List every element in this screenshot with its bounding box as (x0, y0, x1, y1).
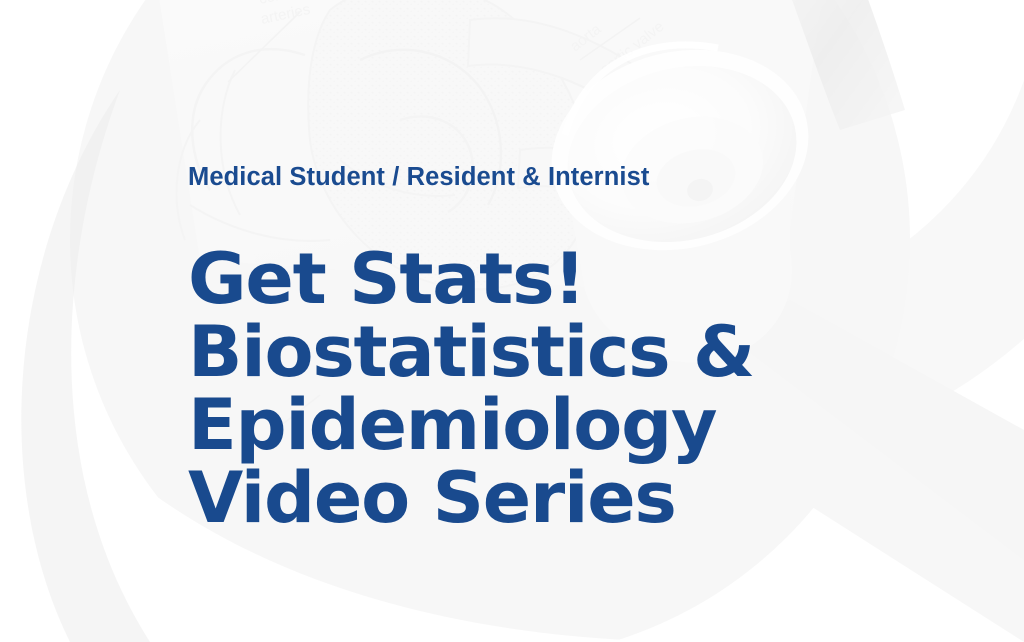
headline-line-2: Biostatistics & (188, 316, 754, 389)
q-circle-edge (21, 90, 150, 642)
headline-line-3: Epidemiology (188, 389, 754, 462)
banner-headline: Get Stats! Biostatistics & Epidemiology … (188, 243, 743, 535)
headline-line-1: Get Stats! (188, 243, 754, 316)
banner-eyebrow: Medical Student / Resident & Internist (188, 163, 649, 192)
headline-line-4: Video Series (188, 462, 754, 535)
promo-banner: coronary arteries aorta aortic valve (0, 0, 1024, 642)
banner-content: Medical Student / Resident & Internist G… (188, 0, 888, 642)
